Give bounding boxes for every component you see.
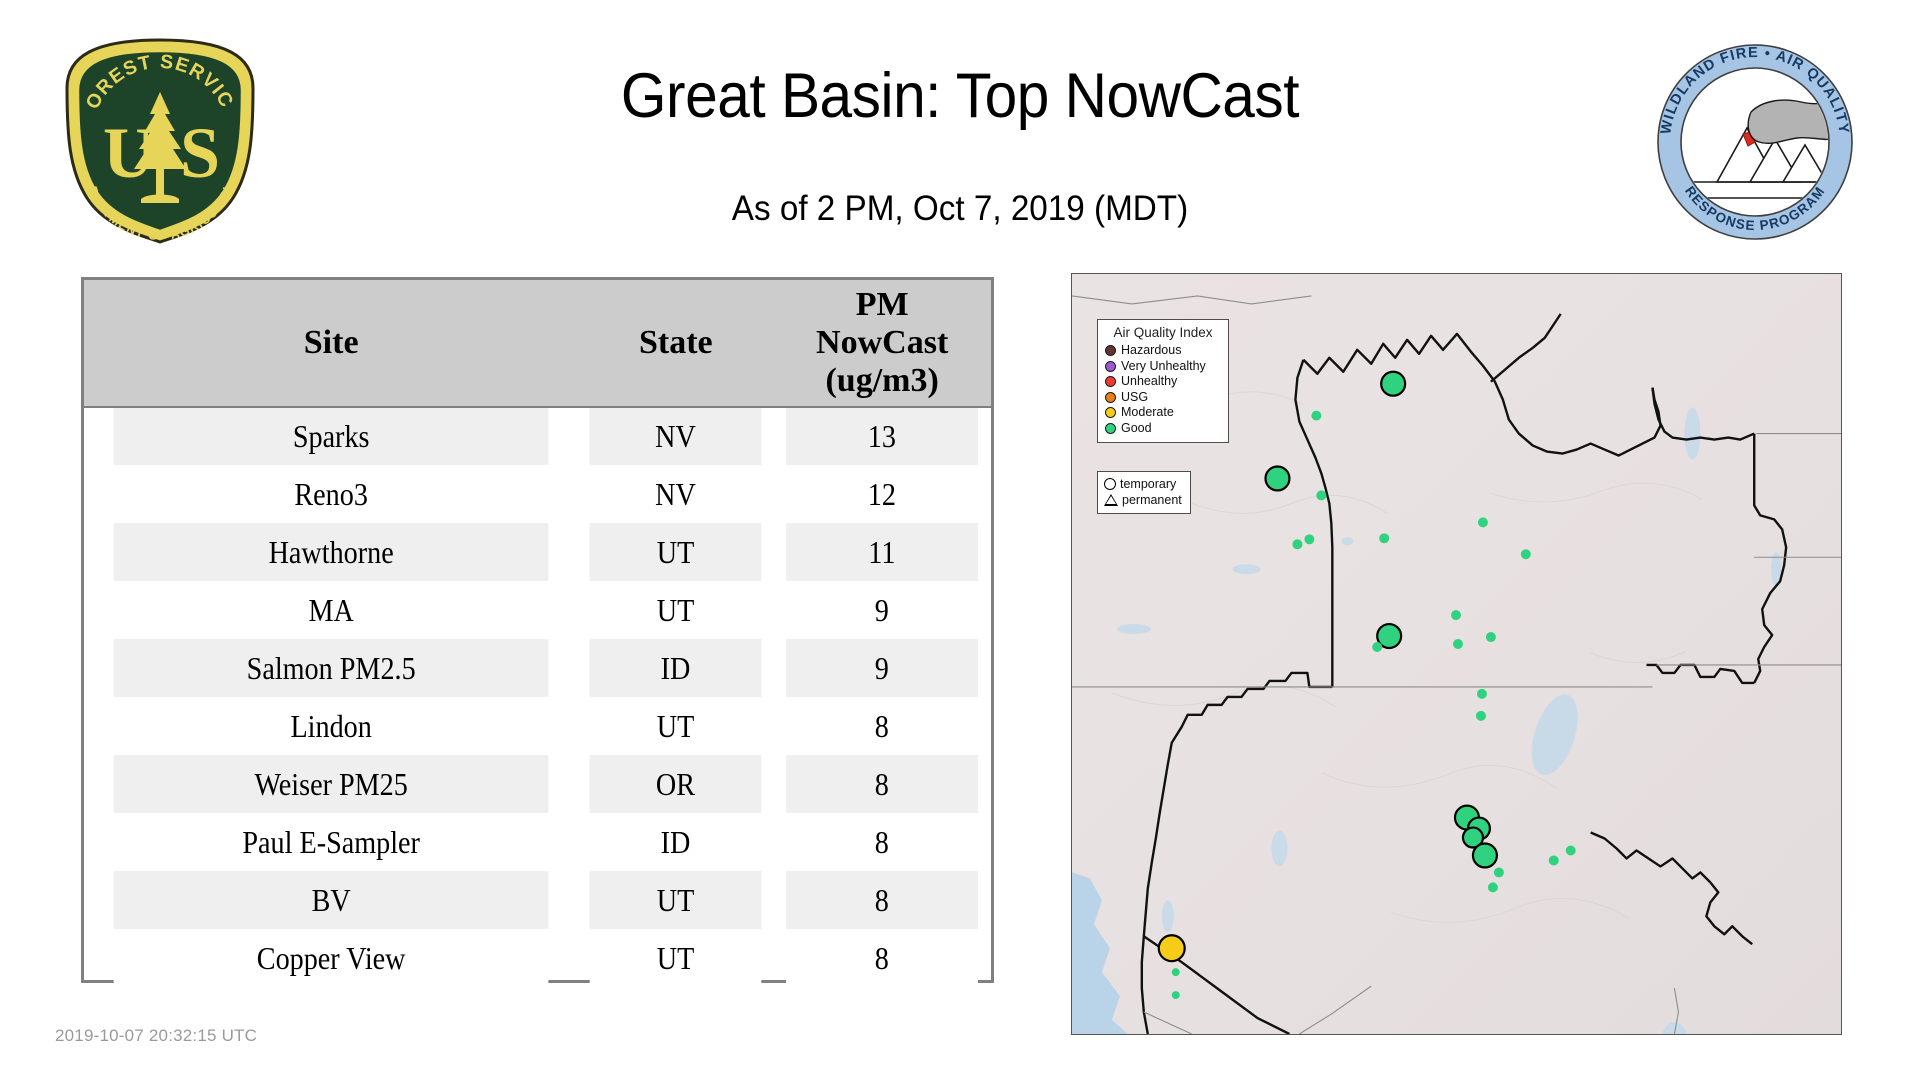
swatch-hazardous-icon [1105, 345, 1116, 356]
cell-site: Reno3 [114, 465, 549, 523]
monitor-marker[interactable] [1311, 411, 1321, 421]
monitor-marker[interactable] [1549, 855, 1559, 865]
aqi-legend: Air Quality Index Hazardous Very Unhealt… [1097, 319, 1229, 443]
legend-item-good: Good [1105, 421, 1221, 436]
monitor-marker[interactable] [1566, 845, 1576, 855]
cell-pm-nowcast: 8 [786, 871, 978, 929]
cell-site: BV [114, 871, 549, 929]
cell-pm-nowcast: 8 [786, 755, 978, 813]
legend-label-hazardous: Hazardous [1121, 343, 1181, 358]
swatch-usg-icon [1105, 392, 1116, 403]
table-row: Copper View UT 8 [84, 929, 991, 987]
cell-site: Paul E-Sampler [114, 813, 549, 871]
table-header-row: Site State PM NowCast (ug/m3) [84, 280, 991, 407]
slide-root: FOREST SERVICE U S DEPARTMENT OF AGRICUL… [0, 0, 1920, 1080]
monitor-marker[interactable] [1380, 633, 1390, 643]
monitor-marker[interactable] [1476, 711, 1486, 721]
pm-header-line-2: NowCast [777, 324, 987, 362]
cell-state: UT [590, 581, 762, 639]
monitor-marker[interactable] [1488, 882, 1498, 892]
legend-item-unhealthy: Unhealthy [1105, 374, 1221, 389]
monitor-marker[interactable] [1172, 968, 1180, 976]
cell-pm-nowcast: 8 [786, 929, 978, 987]
legend-item-very-unhealthy: Very Unhealthy [1105, 359, 1221, 374]
aqi-legend-title: Air Quality Index [1105, 325, 1221, 340]
table-row: Paul E-Sampler ID 8 [84, 813, 991, 871]
cell-state: UT [590, 523, 762, 581]
legend-label-temporary: temporary [1120, 476, 1176, 492]
air-quality-map[interactable]: Air Quality Index Hazardous Very Unhealt… [1071, 273, 1842, 1035]
table-row: Hawthorne UT 11 [84, 523, 991, 581]
generated-timestamp: 2019-10-07 20:32:15 UTC [55, 1026, 257, 1046]
column-header-pm-nowcast: PM NowCast (ug/m3) [773, 280, 991, 407]
monitor-marker[interactable] [1473, 844, 1497, 868]
cell-pm-nowcast: 8 [786, 697, 978, 755]
monitor-marker[interactable] [1379, 533, 1389, 543]
cell-pm-nowcast: 13 [786, 407, 978, 465]
table-row: Salmon PM2.5 ID 9 [84, 639, 991, 697]
monitor-marker[interactable] [1478, 517, 1488, 527]
legend-label-good: Good [1121, 421, 1152, 436]
cell-state: OR [590, 755, 762, 813]
monitor-marker[interactable] [1451, 610, 1461, 620]
monitor-marker[interactable] [1494, 867, 1504, 877]
top-nowcast-table: Site State PM NowCast (ug/m3) Sparks NV … [81, 277, 994, 983]
table-row: Sparks NV 13 [84, 407, 991, 465]
cell-pm-nowcast: 9 [786, 581, 978, 639]
cell-site: Salmon PM2.5 [114, 639, 549, 697]
cell-state: ID [590, 813, 762, 871]
monitor-marker[interactable] [1381, 372, 1405, 396]
monitor-marker[interactable] [1316, 490, 1326, 500]
cell-site: Sparks [114, 407, 549, 465]
cell-site: Weiser PM25 [114, 755, 549, 813]
swatch-unhealthy-icon [1105, 376, 1116, 387]
monitor-marker[interactable] [1477, 689, 1487, 699]
pm-header-line-3: (ug/m3) [777, 362, 987, 400]
legend-label-usg: USG [1121, 390, 1148, 405]
table-row: Reno3 NV 12 [84, 465, 991, 523]
cell-state: NV [590, 465, 762, 523]
cell-site: MA [114, 581, 549, 639]
legend-item-usg: USG [1105, 390, 1221, 405]
monitor-marker[interactable] [1159, 935, 1185, 961]
monitor-marker[interactable] [1172, 991, 1180, 999]
legend-item-temporary: temporary [1104, 476, 1184, 492]
triangle-icon [1104, 494, 1118, 506]
legend-label-very-unhealthy: Very Unhealthy [1121, 359, 1206, 374]
cell-site: Lindon [114, 697, 549, 755]
monitor-marker[interactable] [1521, 549, 1531, 559]
cell-pm-nowcast: 9 [786, 639, 978, 697]
circle-icon [1104, 478, 1116, 490]
cell-pm-nowcast: 11 [786, 523, 978, 581]
monitor-marker[interactable] [1486, 632, 1496, 642]
monitor-marker[interactable] [1453, 639, 1463, 649]
cell-site: Copper View [114, 929, 549, 987]
legend-item-moderate: Moderate [1105, 405, 1221, 420]
column-header-state: State [578, 280, 773, 407]
table-row: Weiser PM25 OR 8 [84, 755, 991, 813]
cell-pm-nowcast: 8 [786, 813, 978, 871]
monitor-marker[interactable] [1372, 642, 1382, 652]
pm-header-line-1: PM [777, 286, 987, 324]
legend-label-unhealthy: Unhealthy [1121, 374, 1177, 389]
page-subtitle: As of 2 PM, Oct 7, 2019 (MDT) [48, 188, 1872, 230]
cell-state: UT [590, 871, 762, 929]
cell-state: UT [590, 697, 762, 755]
legend-label-permanent: permanent [1122, 492, 1182, 508]
legend-item-permanent: permanent [1104, 492, 1184, 508]
cell-state: NV [590, 407, 762, 465]
table-row: BV UT 8 [84, 871, 991, 929]
legend-item-hazardous: Hazardous [1105, 343, 1221, 358]
page-title: Great Basin: Top NowCast [67, 58, 1853, 134]
cell-state: UT [590, 929, 762, 987]
legend-label-moderate: Moderate [1121, 405, 1174, 420]
swatch-good-icon [1105, 423, 1116, 434]
cell-pm-nowcast: 12 [786, 465, 978, 523]
monitor-marker[interactable] [1292, 539, 1302, 549]
table-row: Lindon UT 8 [84, 697, 991, 755]
swatch-very-unhealthy-icon [1105, 361, 1116, 372]
monitor-marker[interactable] [1265, 466, 1289, 490]
swatch-moderate-icon [1105, 407, 1116, 418]
monitor-marker[interactable] [1304, 534, 1314, 544]
cell-state: ID [590, 639, 762, 697]
column-header-site: Site [84, 280, 578, 407]
table-row: MA UT 9 [84, 581, 991, 639]
monitor-type-legend: temporary permanent [1097, 471, 1191, 514]
cell-site: Hawthorne [114, 523, 549, 581]
